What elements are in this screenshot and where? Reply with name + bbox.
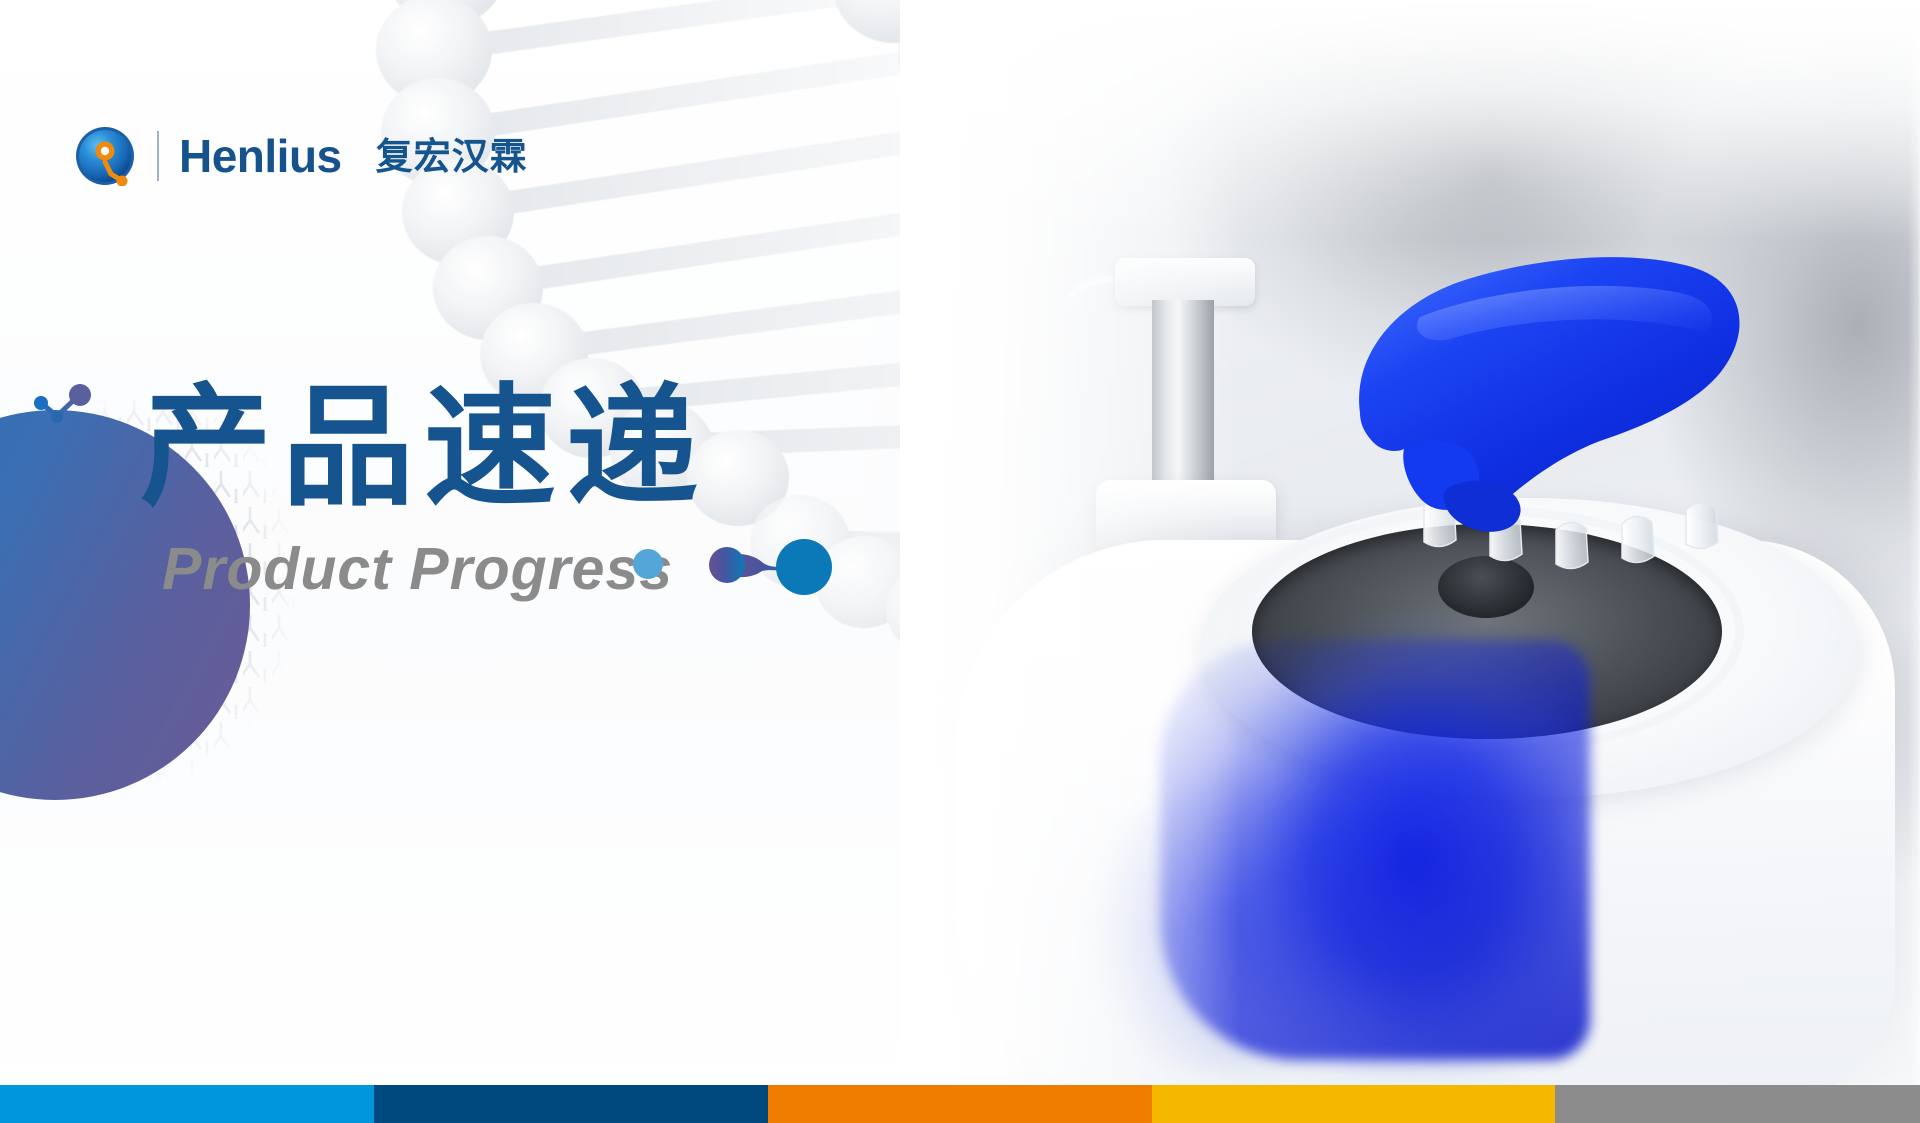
title-slide: Henlius 复宏汉霖 产品速递 Product Progress bbox=[0, 0, 1920, 1123]
segment-orange bbox=[768, 1085, 1152, 1123]
segment-light-blue bbox=[0, 1085, 374, 1123]
brand-logo-lockup[interactable]: Henlius 复宏汉霖 bbox=[75, 124, 528, 188]
logo-divider bbox=[157, 131, 159, 181]
segment-amber bbox=[1152, 1085, 1555, 1123]
molecule-icon-accent bbox=[700, 531, 840, 599]
segment-grey bbox=[1555, 1085, 1920, 1123]
segment-dark-blue bbox=[374, 1085, 768, 1123]
logo-chinese-name: 复宏汉霖 bbox=[376, 138, 528, 175]
molecule-icon-small bbox=[33, 383, 105, 439]
blue-glove-hand bbox=[1300, 205, 1750, 605]
logo-wordmark: Henlius bbox=[179, 133, 342, 179]
brand-color-bar bbox=[0, 1085, 1920, 1123]
henlius-logo-mark bbox=[75, 126, 135, 186]
page-title: 产品速递 bbox=[140, 378, 900, 518]
accent-dot bbox=[633, 549, 663, 579]
photo-top-fade bbox=[900, 0, 1920, 240]
right-edge-fade bbox=[1908, 0, 1920, 1085]
laboratory-centrifuge-photo bbox=[900, 0, 1920, 1085]
